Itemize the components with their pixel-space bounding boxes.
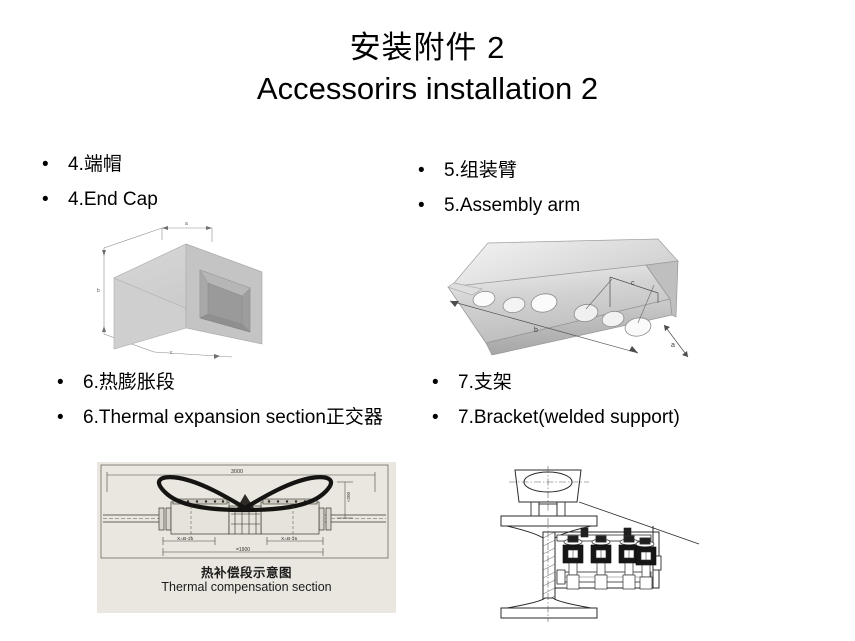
upper-structure xyxy=(509,466,589,512)
thermal-figure-caption-chinese: 热补偿段示意图 xyxy=(97,562,396,581)
dimension-arrow xyxy=(450,301,459,307)
ibeam-bottom-fillet xyxy=(507,598,591,608)
dimension-arrow xyxy=(682,351,688,357)
bullet-label: 5.组装臂 xyxy=(444,158,517,184)
assembly-arm-channel-figure: b c a xyxy=(426,237,698,365)
ibeam-bottom-flange xyxy=(501,608,597,618)
list-item: • 6.Thermal expansion section正交器 xyxy=(57,405,402,431)
list-item: • 6.热膨胀段 xyxy=(57,370,402,396)
dimension-a xyxy=(664,325,688,357)
dimension-label-right-xb: X=B-15 xyxy=(281,536,297,542)
list-item: • 4.End Cap xyxy=(42,187,372,213)
end-cap-isometric-tube-figure: a b c xyxy=(92,226,297,358)
bullet-dot-icon: • xyxy=(57,370,83,396)
dimension-label-left-xb: X=B-15 xyxy=(177,536,193,542)
list-item: • 7.Bracket(welded support) xyxy=(432,405,802,431)
dimension-label-b: b xyxy=(534,327,538,334)
ibeam-web xyxy=(543,532,555,608)
bullet-group-thermal-expansion: • 6.热膨胀段 • 6.Thermal expansion section正交… xyxy=(57,370,402,440)
bullet-group-bracket: • 7.支架 • 7.Bracket(welded support) xyxy=(432,370,802,440)
bullet-label: 7.Bracket(welded support) xyxy=(458,405,680,431)
bullet-label: 5.Assembly arm xyxy=(444,193,580,219)
slide-title: 安装附件 2 Accessorirs installation 2 xyxy=(0,28,855,110)
overall-dimension-label: 3000 xyxy=(231,469,243,475)
bullet-label: 4.端帽 xyxy=(68,152,122,178)
bullet-label: 4.End Cap xyxy=(68,187,158,213)
lower-rail-end-block xyxy=(557,570,565,584)
bullet-dot-icon: • xyxy=(57,405,83,431)
dimension-arrow xyxy=(664,325,670,331)
bullet-dot-icon: • xyxy=(418,158,444,184)
bullet-dot-icon: • xyxy=(418,193,444,219)
ibeam-top-flange xyxy=(501,516,597,526)
slide-title-chinese: 安装附件 2 xyxy=(0,28,855,68)
thermal-compensation-diagram-figure: 3000 xyxy=(97,462,396,613)
presentation-slide: 安装附件 2 Accessorirs installation 2 • 4.端帽… xyxy=(0,0,855,641)
height-dimension-label: ≈200 xyxy=(346,492,351,502)
list-item: • 5.Assembly arm xyxy=(418,193,798,219)
bullet-label: 7.支架 xyxy=(458,370,512,396)
list-item: • 5.组装臂 xyxy=(418,158,798,184)
bullet-group-end-cap: • 4.端帽 • 4.End Cap xyxy=(42,152,372,222)
inner-dimension-label: =1900 xyxy=(236,547,250,553)
dimension-label-a: a xyxy=(671,342,675,349)
svg-text:a: a xyxy=(185,221,188,227)
bullet-label: 6.Thermal expansion section正交器 xyxy=(83,405,383,431)
bullet-dot-icon: • xyxy=(432,405,458,431)
overall-dimension-line xyxy=(107,472,375,492)
slide-title-english: Accessorirs installation 2 xyxy=(0,68,855,110)
bullet-dot-icon: • xyxy=(42,187,68,213)
bullet-dot-icon: • xyxy=(42,152,68,178)
dimension-label-c: c xyxy=(631,280,635,287)
bullet-label: 6.热膨胀段 xyxy=(83,370,175,396)
svg-text:b: b xyxy=(97,288,100,294)
dimension-arrow xyxy=(629,346,638,353)
thermal-figure-caption-english: Thermal compensation section xyxy=(97,580,396,594)
list-item: • 4.端帽 xyxy=(42,152,372,178)
bullet-group-assembly-arm: • 5.组装臂 • 5.Assembly arm xyxy=(418,158,798,228)
list-item: • 7.支架 xyxy=(432,370,802,396)
bullet-dot-icon: • xyxy=(432,370,458,396)
bracket-welded-support-figure xyxy=(493,460,743,635)
